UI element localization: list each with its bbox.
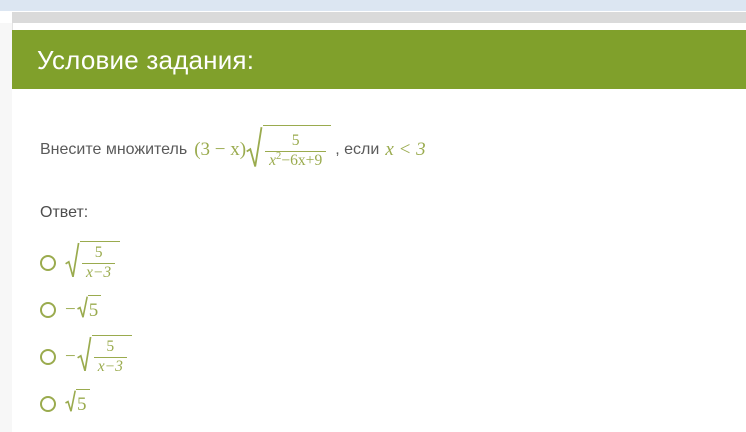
radical-sign-icon (65, 389, 76, 419)
option-4-radicand: 5 (76, 389, 90, 419)
answer-option-3[interactable]: − 5 x−3 (40, 333, 640, 380)
answer-option-4[interactable]: 5 (40, 380, 640, 427)
option-1-expression: 5 x−3 (65, 241, 120, 285)
option-3-denominator: x−3 (94, 357, 127, 376)
answer-option-1[interactable]: 5 x−3 (40, 239, 640, 286)
option-1-numerator: 5 (91, 245, 107, 263)
denominator-variable: x (269, 152, 276, 169)
option-4-expression: 5 (65, 389, 90, 419)
browser-gray-bar (12, 12, 746, 23)
page-title: Условие задания: (12, 47, 254, 73)
question-prefix: Внесите множитель (40, 142, 187, 158)
option-2-expression: − 5 (65, 295, 101, 325)
question-condition-math: x < 3 (385, 139, 425, 161)
radical-sign-icon (246, 125, 263, 175)
radio-button-2[interactable] (40, 302, 56, 318)
option-3-numerator: 5 (102, 339, 118, 357)
task-header: Условие задания: (12, 30, 746, 89)
task-body: Внесите множитель (3 − x) 5 x2−6x+9 , (12, 89, 746, 432)
denominator-rest: −6x+9 (281, 152, 322, 169)
option-2-sign: − (65, 299, 77, 321)
answer-label: Ответ: (40, 205, 88, 221)
browser-top-band (0, 0, 746, 11)
question-sqrt: 5 x2−6x+9 (246, 125, 331, 175)
radio-button-1[interactable] (40, 255, 56, 271)
question-fraction: 5 x2−6x+9 (265, 133, 326, 170)
option-3-sign: − (65, 346, 77, 368)
fraction-numerator: 5 (288, 133, 304, 151)
radical-sign-icon (77, 295, 88, 325)
chrome-left-gap (0, 11, 12, 23)
option-3-expression: − 5 x−3 (65, 335, 132, 379)
question-expression: (3 − x) 5 x2−6x+9 (194, 125, 331, 175)
radical-sign-icon (77, 335, 92, 379)
fraction-denominator: x2−6x+9 (265, 151, 326, 170)
radio-button-4[interactable] (40, 396, 56, 412)
option-1-denominator: x−3 (82, 263, 115, 282)
answer-options-group: 5 x−3 − (40, 239, 640, 427)
question-statement: Внесите множитель (3 − x) 5 x2−6x+9 , (40, 125, 426, 175)
answer-option-2[interactable]: − 5 (40, 286, 640, 333)
question-radicand: 5 x2−6x+9 (263, 125, 331, 175)
option-2-radicand: 5 (88, 295, 102, 325)
radical-sign-icon (65, 241, 80, 285)
question-condition-text: , если (335, 142, 379, 158)
question-factor: (3 − x) (194, 139, 246, 161)
radio-button-3[interactable] (40, 349, 56, 365)
